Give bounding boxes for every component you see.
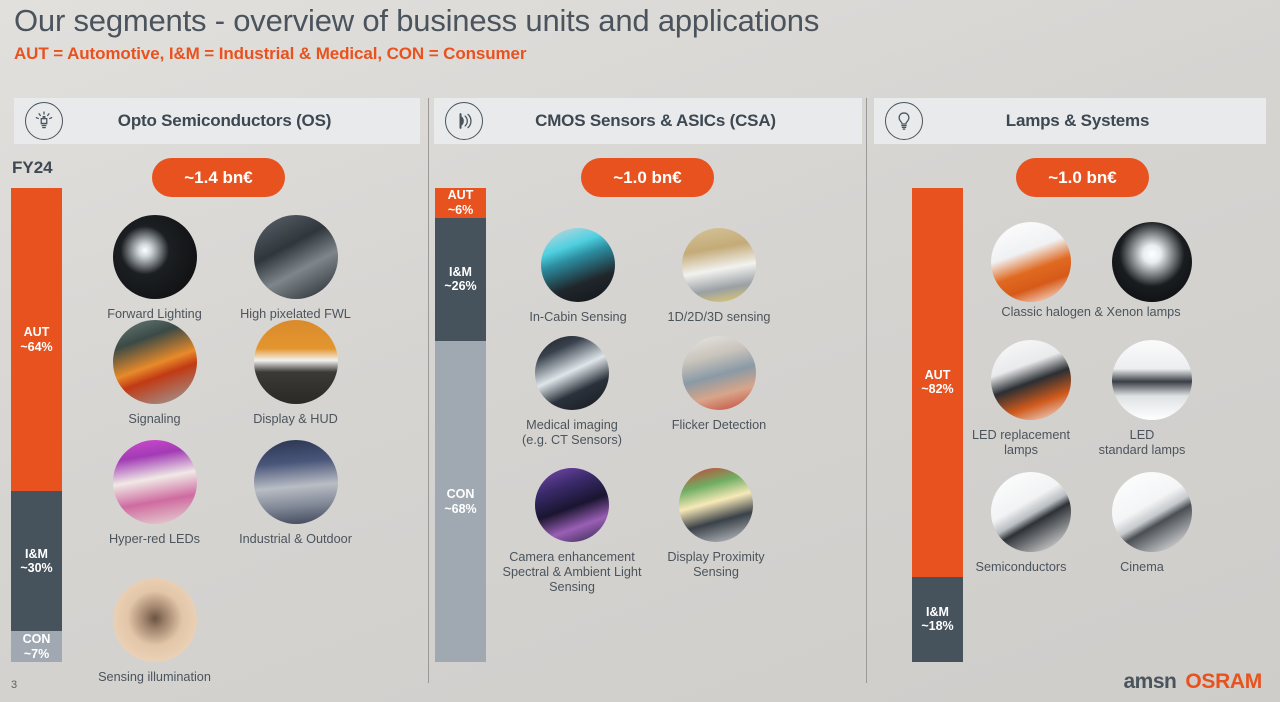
bar-segment-pct: ~64% <box>20 340 52 355</box>
application-tile-cinema[interactable]: Cinema <box>1111 472 1193 575</box>
signal-wave-icon <box>445 102 483 140</box>
bar-segment-code: CON <box>23 632 51 647</box>
revenue-badge-cmos-sensors: ~1.0 bn€ <box>581 158 714 197</box>
camera-enhancement-photo <box>535 468 609 542</box>
section-title-cmos-sensors: CMOS Sensors & ASICs (CSA) <box>483 111 862 131</box>
application-tile-display-proximity-sensing[interactable]: Display Proximity Sensing <box>655 468 777 580</box>
bar-segment-pct: ~7% <box>24 647 49 662</box>
section-title-opto-semiconductors: Opto Semiconductors (OS) <box>63 111 420 131</box>
light-bulb-icon <box>885 102 923 140</box>
bar-segment-im: I&M ~18% <box>912 577 963 662</box>
revenue-badge-opto-semiconductors: ~1.4 bn€ <box>152 158 285 197</box>
led-replacement-lamps-photo <box>991 340 1071 420</box>
application-tile-industrial-outdoor[interactable]: Industrial & Outdoor <box>238 440 353 547</box>
application-tile-camera-enhancement[interactable]: Camera enhancement Spectral & Ambient Li… <box>496 468 648 595</box>
application-tile-label: Classic halogen & Xenon lamps <box>985 305 1197 320</box>
page-title: Our segments - overview of business unit… <box>14 2 1254 41</box>
bar-segment-pct: ~68% <box>444 502 476 517</box>
bar-segment-pct: ~30% <box>20 561 52 576</box>
bar-segment-code: I&M <box>25 547 48 562</box>
application-tile-label: Flicker Detection <box>672 418 766 433</box>
semiconductors-lamp-photo <box>991 472 1071 552</box>
cinema-lamp-photo <box>1112 472 1192 552</box>
logo-ams-text: amsn <box>1123 670 1176 694</box>
display-proximity-sensing-photo <box>679 468 753 542</box>
classic-halogen-photo <box>991 222 1071 302</box>
application-tile-label: 1D/2D/3D sensing <box>668 310 771 325</box>
application-tile-label: Medical imaging (e.g. CT Sensors) <box>522 418 622 448</box>
application-tile-label: Sensing illumination <box>98 670 211 685</box>
section-header-lamps-systems[interactable]: Lamps & Systems <box>874 98 1266 144</box>
application-tile-led-replacement-lamps[interactable]: LED replacement lamps <box>990 340 1072 458</box>
application-tile-xenon-beam[interactable] <box>1111 222 1193 302</box>
bar-segment-im: I&M ~26% <box>435 218 486 341</box>
bar-segment-code: I&M <box>926 605 949 620</box>
application-tile-label: LED standard lamps <box>1081 428 1203 458</box>
display-hud-photo <box>254 320 338 404</box>
section-header-cmos-sensors[interactable]: CMOS Sensors & ASICs (CSA) <box>434 98 862 144</box>
sensing-illumination-photo <box>113 578 197 662</box>
title-block: Our segments - overview of business unit… <box>14 2 1254 64</box>
legend-abbreviations: AUT = Automotive, I&M = Industrial & Med… <box>14 44 1254 64</box>
bar-segment-con: CON ~7% <box>11 631 62 662</box>
application-tile-label-classic-halogen: Classic halogen & Xenon lamps <box>985 305 1197 320</box>
high-pixelated-fwl-photo <box>254 215 338 299</box>
application-tile-hyper-red-leds[interactable]: Hyper-red LEDs <box>97 440 212 547</box>
application-tile-sensing-illumination[interactable]: Sensing illumination <box>97 578 212 685</box>
bar-segment-code: AUT <box>24 325 50 340</box>
bar-segment-code: AUT <box>448 188 474 203</box>
flicker-detection-photo <box>682 336 756 410</box>
application-tile-high-pixelated-fwl[interactable]: High pixelated FWL <box>238 215 353 322</box>
bar-segment-code: CON <box>447 487 475 502</box>
bar-segment-im: I&M ~30% <box>11 491 62 631</box>
bar-segment-code: I&M <box>449 265 472 280</box>
in-cabin-sensing-photo <box>541 228 615 302</box>
signaling-photo <box>113 320 197 404</box>
bar-segment-aut: AUT ~82% <box>912 188 963 577</box>
section-title-lamps-systems: Lamps & Systems <box>923 111 1266 131</box>
bar-segment-aut: AUT ~6% <box>435 188 486 218</box>
fiscal-year-label: FY24 <box>12 158 53 178</box>
bar-segment-code: AUT <box>925 368 951 383</box>
page-number: 3 <box>11 679 17 691</box>
logo-osram-text: OSRAM <box>1185 670 1262 694</box>
application-tile-label: In-Cabin Sensing <box>529 310 626 325</box>
brand-logo: amsn OSRAM <box>1123 670 1262 694</box>
industrial-outdoor-photo <box>254 440 338 524</box>
bar-segment-pct: ~26% <box>444 279 476 294</box>
section-divider-2 <box>866 98 867 683</box>
application-tile-led-standard-lamps[interactable]: LED standard lamps <box>1111 340 1193 458</box>
application-tile-label: Industrial & Outdoor <box>239 532 352 547</box>
application-tile-label: Hyper-red LEDs <box>109 532 200 547</box>
medical-imaging-photo <box>535 336 609 410</box>
hyper-red-leds-photo <box>113 440 197 524</box>
bar-segment-pct: ~82% <box>921 382 953 397</box>
led-lamp-icon <box>25 102 63 140</box>
application-tile-label: Camera enhancement Spectral & Ambient Li… <box>503 550 642 595</box>
application-tile-semiconductors[interactable]: Semiconductors <box>990 472 1072 575</box>
application-tile-medical-imaging[interactable]: Medical imaging (e.g. CT Sensors) <box>516 336 628 448</box>
application-tile-label: Display & HUD <box>253 412 338 427</box>
application-tile-label: Semiconductors <box>960 560 1082 575</box>
forward-lighting-photo <box>113 215 197 299</box>
revenue-badge-lamps-systems: ~1.0 bn€ <box>1016 158 1149 197</box>
application-tile-flicker-detection[interactable]: Flicker Detection <box>663 336 775 433</box>
application-tile-label: Display Proximity Sensing <box>667 550 764 580</box>
application-tile-label: Signaling <box>128 412 180 427</box>
revenue-split-bar-cmos-sensors: AUT ~6% I&M ~26% CON ~68% <box>435 188 486 662</box>
application-tile-classic-halogen-xenon[interactable] <box>990 222 1072 302</box>
revenue-split-bar-opto-semiconductors: AUT ~64% I&M ~30% CON ~7% <box>11 188 62 662</box>
bar-segment-con: CON ~68% <box>435 341 486 662</box>
application-tile-in-cabin-sensing[interactable]: In-Cabin Sensing <box>522 228 634 325</box>
bar-segment-aut: AUT ~64% <box>11 188 62 491</box>
xenon-beam-photo <box>1112 222 1192 302</box>
led-standard-lamps-photo <box>1112 340 1192 420</box>
1d2d3d-sensing-photo <box>682 228 756 302</box>
revenue-split-bar-lamps-systems: AUT ~82% I&M ~18% <box>912 188 963 662</box>
application-tile-label: LED replacement lamps <box>960 428 1082 458</box>
application-tile-signaling[interactable]: Signaling <box>97 320 212 427</box>
application-tile-forward-lighting[interactable]: Forward Lighting (FWL) <box>97 215 212 337</box>
section-header-opto-semiconductors[interactable]: Opto Semiconductors (OS) <box>14 98 420 144</box>
application-tile-label: Cinema <box>1081 560 1203 575</box>
bar-segment-pct: ~18% <box>921 619 953 634</box>
section-divider-1 <box>428 98 429 683</box>
bar-segment-pct: ~6% <box>448 203 473 218</box>
application-tile-display-hud[interactable]: Display & HUD <box>238 320 353 427</box>
application-tile-1d2d3d-sensing[interactable]: 1D/2D/3D sensing <box>663 228 775 325</box>
